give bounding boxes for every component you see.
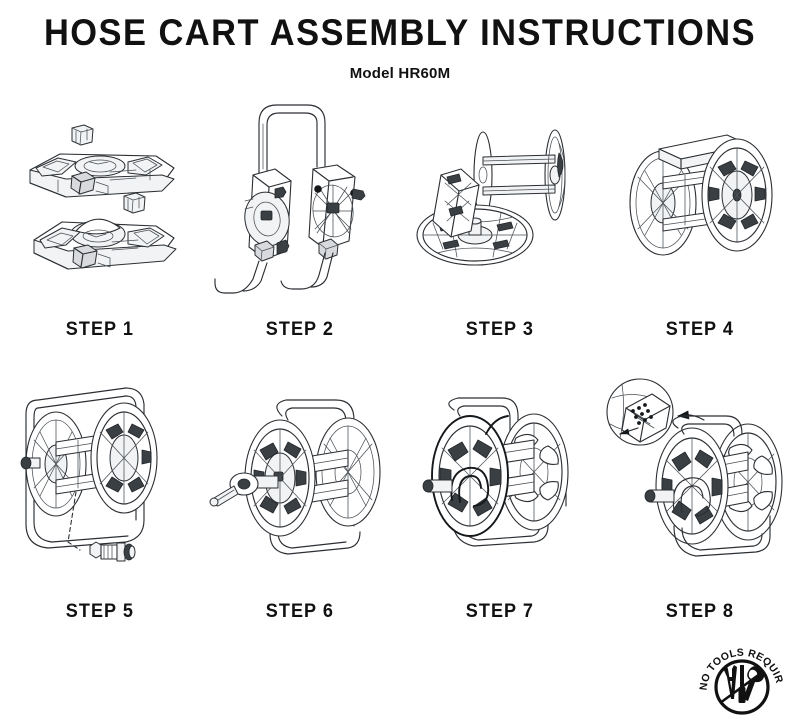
frame-handle-tube [259, 105, 325, 173]
step-4-illustration [600, 88, 800, 303]
step-cell-8: STEP 8 [600, 363, 800, 623]
reel-disc-near-7 [423, 416, 508, 536]
step-label-7: STEP 7 [466, 601, 534, 623]
base-plate-lower [34, 193, 176, 269]
detail-callout-circle [607, 379, 673, 445]
right-leg-bracket [293, 165, 365, 289]
step-2-illustration [200, 88, 400, 303]
step-cell-7: STEP 7 [400, 363, 600, 623]
base-plate-upper [30, 125, 174, 197]
reel-disc-far-7 [500, 414, 568, 530]
step-cell-5: STEP 5 [0, 363, 200, 623]
step-3-illustration [400, 88, 600, 303]
reel-disc-far-6 [316, 418, 380, 526]
page-title: HOSE CART ASSEMBLY INSTRUCTIONS [28, 14, 772, 53]
step-cell-2: STEP 2 [200, 88, 400, 341]
reel-disc-near [702, 139, 772, 251]
step-cell-1: STEP 1 [0, 88, 200, 341]
step-label-5: STEP 5 [66, 601, 134, 623]
step-cell-6: STEP 6 [200, 363, 400, 623]
step-label-2: STEP 2 [266, 319, 334, 341]
step-label-1: STEP 1 [66, 319, 134, 341]
steps-row-bottom: STEP 5 [0, 363, 800, 623]
step-8-illustration [600, 363, 800, 585]
step-cell-3: STEP 3 [400, 88, 600, 341]
steps-row-top: STEP 1 [0, 88, 800, 341]
step-1-illustration [0, 88, 200, 303]
reel-disc-near-5 [91, 403, 157, 513]
reel-side-disc [417, 169, 533, 265]
step-label-8: STEP 8 [666, 601, 734, 623]
left-leg-bracket [225, 169, 293, 293]
step-6-illustration [200, 363, 400, 585]
step-label-4: STEP 4 [666, 319, 734, 341]
step-7-illustration [400, 363, 600, 585]
model-subtitle: Model HR60M [0, 65, 800, 82]
step-label-3: STEP 3 [466, 319, 534, 341]
reel-disc-near-8 [645, 428, 728, 544]
no-tools-required-badge: NO TOOLS REQUIRED [694, 643, 790, 719]
step-cell-4: STEP 4 [600, 88, 800, 341]
document-header: HOSE CART ASSEMBLY INSTRUCTIONS Model HR… [0, 0, 800, 82]
leader-hose-connector [90, 542, 135, 561]
step-label-6: STEP 6 [266, 601, 334, 623]
step-5-illustration [0, 363, 200, 585]
